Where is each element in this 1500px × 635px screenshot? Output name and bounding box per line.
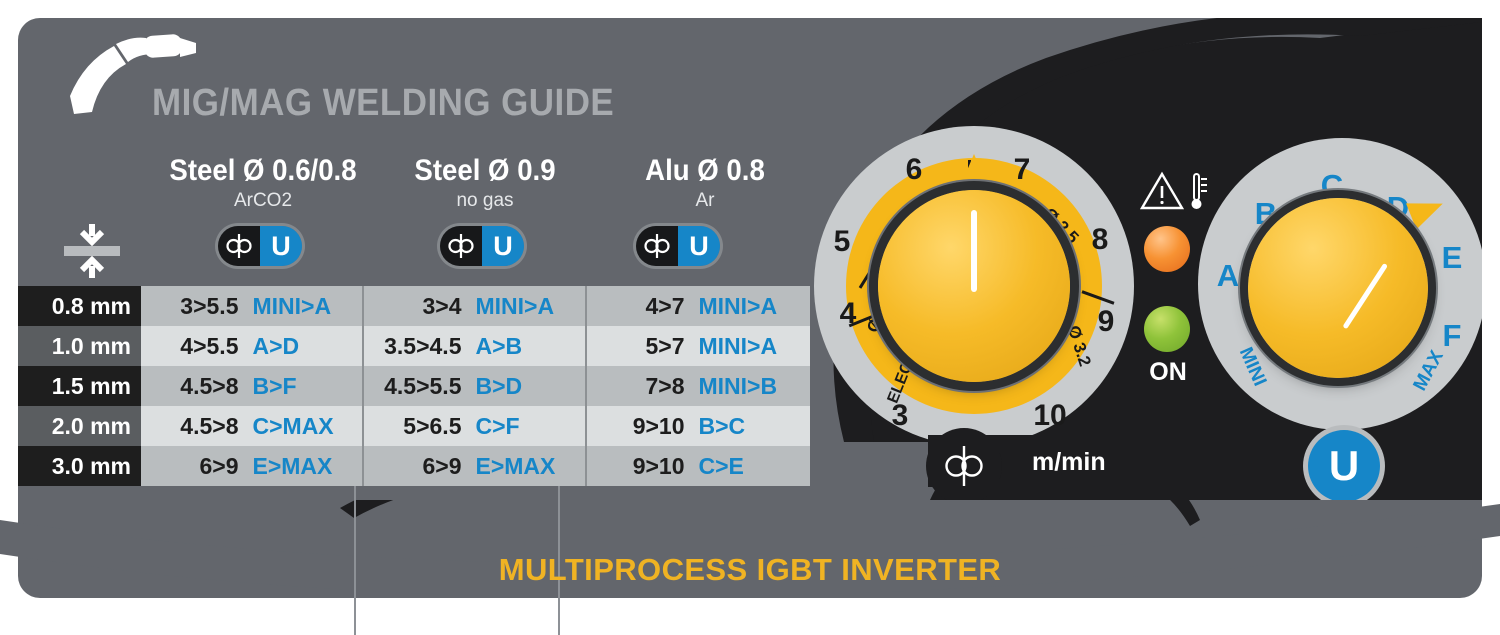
dial-scale-5: 5: [834, 225, 851, 259]
wire-spool-icon: [636, 226, 678, 266]
voltage-value: B>C: [699, 413, 791, 440]
voltage-value: A>B: [476, 333, 568, 360]
voltage-value: C>MAX: [253, 413, 345, 440]
wire-speed-value: 6>9: [161, 453, 239, 480]
guide-table-body: 0.8 mm3>5.5MINI>A3>4MINI>A4>7MINI>A1.0 m…: [18, 286, 810, 486]
guide-cell: 5>6.5C>F: [364, 406, 587, 446]
guide-cell: 7>8MINI>B: [587, 366, 810, 406]
wire-speed-dial-pointer: [963, 154, 985, 180]
voltage-letter: U: [678, 226, 720, 266]
voltage-value: C>F: [476, 413, 568, 440]
wire-voltage-badge-2: U: [636, 226, 720, 266]
knob-indicator-line: [1342, 263, 1388, 329]
guide-cell: 9>10C>E: [587, 446, 810, 486]
power-led-green: [1144, 306, 1190, 352]
voltage-letter: U: [482, 226, 524, 266]
thickness-cell: 1.0 mm: [18, 326, 141, 366]
guide-cell: 3.5>4.5A>B: [364, 326, 587, 366]
guide-cell: 6>9E>MAX: [364, 446, 587, 486]
voltage-value: B>D: [476, 373, 568, 400]
guide-column-1: Steel Ø 0.9 no gas: [370, 154, 600, 212]
wire-speed-unit-label: m/min: [1032, 448, 1106, 477]
column-title: Steel Ø 0.9: [379, 154, 591, 188]
voltage-u-button[interactable]: U: [1308, 430, 1380, 500]
voltage-label-E: E: [1442, 240, 1463, 276]
voltage-value: E>MAX: [253, 453, 345, 480]
guide-cell: 4.5>5.5B>D: [364, 366, 587, 406]
column-gas: Ar: [590, 190, 820, 212]
dial-scale-6: 6: [906, 153, 923, 187]
guide-cell: 3>5.5MINI>A: [141, 286, 364, 326]
dial-scale-8: 8: [1092, 223, 1109, 257]
dial-scale-3: 3: [892, 399, 909, 433]
guide-column-2: Alu Ø 0.8 Ar: [590, 154, 820, 212]
voltage-value: A>D: [253, 333, 345, 360]
wire-speed-value: 6>9: [384, 453, 462, 480]
wire-speed-value: 4.5>8: [161, 413, 239, 440]
thickness-cell: 2.0 mm: [18, 406, 141, 446]
voltage-value: MINI>A: [699, 333, 791, 360]
column-gas: no gas: [370, 190, 600, 212]
table-row: 1.5 mm4.5>8B>F4.5>5.5B>D7>8MINI>B: [18, 366, 810, 406]
guide-cell: 9>10B>C: [587, 406, 810, 446]
plate-thickness-icon: [52, 222, 132, 280]
wire-speed-value: 4.5>8: [161, 373, 239, 400]
wire-speed-dial-knob[interactable]: [878, 190, 1070, 382]
guide-cell: 4.5>8C>MAX: [141, 406, 364, 446]
wire-voltage-badge-0: U: [218, 226, 302, 266]
thermometer-icon: [1192, 174, 1208, 209]
voltage-label-F: F: [1443, 318, 1462, 354]
wire-speed-value: 3>4: [384, 293, 462, 320]
wire-speed-value: 9>10: [607, 413, 685, 440]
guide-column-0: Steel Ø 0.6/0.8 ArCO2: [148, 154, 378, 212]
wire-speed-value: 4>5.5: [161, 333, 239, 360]
dial-scale-4: 4: [840, 297, 857, 331]
wire-feed-button[interactable]: [926, 428, 1002, 500]
voltage-value: MINI>A: [476, 293, 568, 320]
wire-spool-icon: [218, 226, 260, 266]
guide-cell: 6>9E>MAX: [141, 446, 364, 486]
product-banner: MULTIPROCESS IGBT INVERTER: [0, 552, 1500, 588]
voltage-value: E>MAX: [476, 453, 568, 480]
welding-panel-screenshot: MIG/MAG WELDING GUIDE Designed in France…: [0, 0, 1500, 635]
thickness-cell: 3.0 mm: [18, 446, 141, 486]
wire-voltage-badge-1: U: [440, 226, 524, 266]
voltage-label-A: A: [1217, 258, 1239, 294]
table-row: 3.0 mm6>9E>MAX6>9E>MAX9>10C>E: [18, 446, 810, 486]
voltage-value: MINI>B: [699, 373, 791, 400]
power-on-label: ON: [1144, 358, 1192, 387]
voltage-letter: U: [260, 226, 302, 266]
thickness-cell: 1.5 mm: [18, 366, 141, 406]
guide-cell: 4>5.5A>D: [141, 326, 364, 366]
wire-speed-value: 5>7: [607, 333, 685, 360]
wire-speed-value: 3.5>4.5: [384, 333, 462, 360]
guide-cell: 4.5>8B>F: [141, 366, 364, 406]
dial-scale-10: 10: [1033, 399, 1066, 433]
table-row: 2.0 mm4.5>8C>MAX5>6.5C>F9>10B>C: [18, 406, 810, 446]
guide-cell: 4>7MINI>A: [587, 286, 810, 326]
wire-speed-value: 9>10: [607, 453, 685, 480]
wire-spool-icon: [440, 226, 482, 266]
wire-speed-value: 4.5>5.5: [384, 373, 462, 400]
wire-speed-value: 3>5.5: [161, 293, 239, 320]
indicator-icons: [1138, 170, 1230, 212]
voltage-dial-knob[interactable]: [1248, 198, 1428, 378]
column-title: Alu Ø 0.8: [599, 154, 811, 188]
dial-scale-7: 7: [1014, 153, 1031, 187]
dial-scale-9: 9: [1098, 305, 1115, 339]
guide-cell: 3>4MINI>A: [364, 286, 587, 326]
voltage-value: C>E: [699, 453, 791, 480]
wire-speed-value: 5>6.5: [384, 413, 462, 440]
column-gas: ArCO2: [148, 190, 378, 212]
control-module: Ø 1.6 Ø 2.0 Ø 2.5 Ø 3.2 ELECTRODE 4 5 6 …: [800, 18, 1482, 500]
wire-speed-value: 7>8: [607, 373, 685, 400]
thermal-warning-icon: [1142, 174, 1182, 208]
voltage-value: MINI>A: [253, 293, 345, 320]
thermal-led-orange: [1144, 226, 1190, 272]
wire-speed-value: 4>7: [607, 293, 685, 320]
knob-indicator-line: [971, 210, 977, 292]
page-title: MIG/MAG WELDING GUIDE: [152, 82, 614, 125]
table-row: 0.8 mm3>5.5MINI>A3>4MINI>A4>7MINI>A: [18, 286, 810, 326]
voltage-value: B>F: [253, 373, 345, 400]
table-row: 1.0 mm4>5.5A>D3.5>4.5A>B5>7MINI>A: [18, 326, 810, 366]
thickness-cell: 0.8 mm: [18, 286, 141, 326]
column-title: Steel Ø 0.6/0.8: [157, 154, 369, 188]
voltage-value: MINI>A: [699, 293, 791, 320]
guide-cell: 5>7MINI>A: [587, 326, 810, 366]
